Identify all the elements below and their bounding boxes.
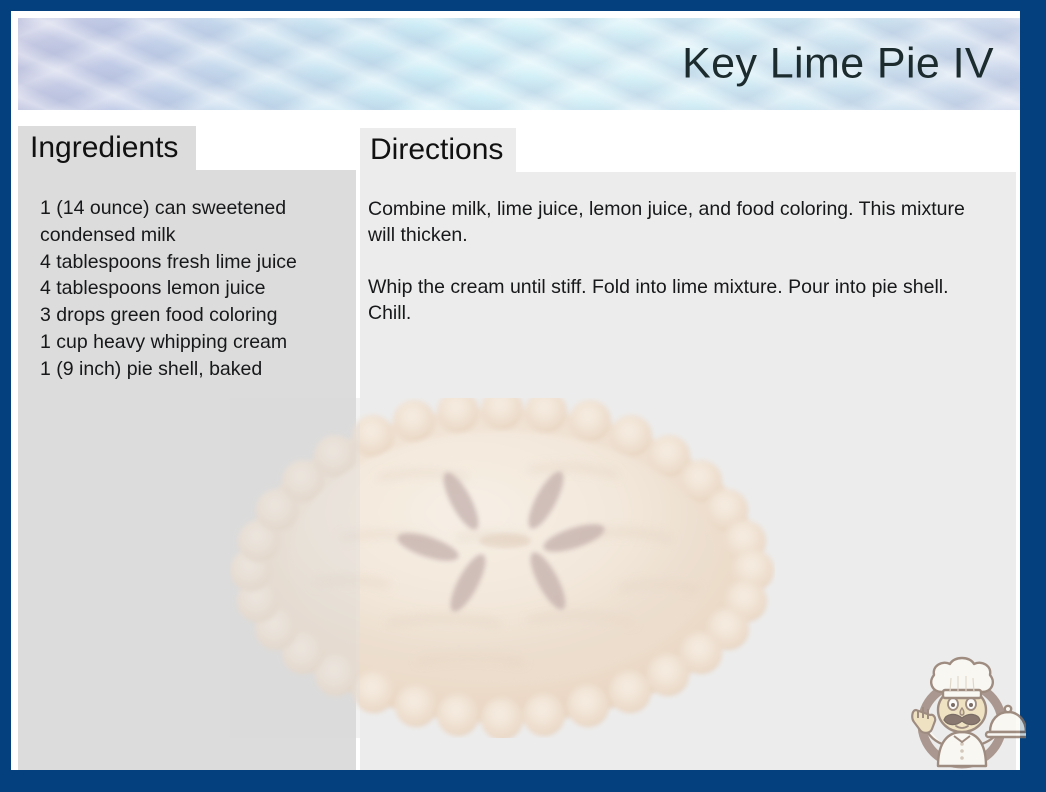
- ingredients-panel: 1 (14 ounce) can sweetened condensed mil…: [18, 170, 356, 770]
- ingredients-list: 1 (14 ounce) can sweetened condensed mil…: [40, 195, 348, 383]
- frame-border-left: [0, 0, 11, 792]
- list-item: 3 drops green food coloring: [40, 302, 348, 329]
- ingredients-heading-label: Ingredients: [30, 131, 178, 165]
- recipe-slide: Key Lime Pie IV Ingredients 1 (14 ounce)…: [0, 0, 1046, 792]
- frame-border-top: [0, 0, 1046, 11]
- page-title: Key Lime Pie IV: [682, 40, 994, 89]
- directions-heading-label: Directions: [370, 133, 503, 167]
- directions-text: Combine milk, lime juice, lemon juice, a…: [368, 196, 986, 326]
- list-item: 4 tablespoons lemon juice: [40, 275, 348, 302]
- list-item: 4 tablespoons fresh lime juice: [40, 249, 348, 276]
- chef-logo: [898, 648, 1026, 776]
- directions-heading-tab: Directions: [360, 128, 516, 172]
- list-item: 1 (9 inch) pie shell, baked: [40, 356, 348, 383]
- list-item: 1 cup heavy whipping cream: [40, 329, 348, 356]
- header-banner: Key Lime Pie IV: [18, 18, 1020, 110]
- frame-border-bottom: [0, 770, 1046, 792]
- list-item: 1 (14 ounce) can sweetened condensed mil…: [40, 195, 348, 249]
- ingredients-heading-tab: Ingredients: [18, 126, 196, 170]
- directions-paragraph: Whip the cream until stiff. Fold into li…: [368, 274, 986, 326]
- directions-paragraph: Combine milk, lime juice, lemon juice, a…: [368, 196, 986, 248]
